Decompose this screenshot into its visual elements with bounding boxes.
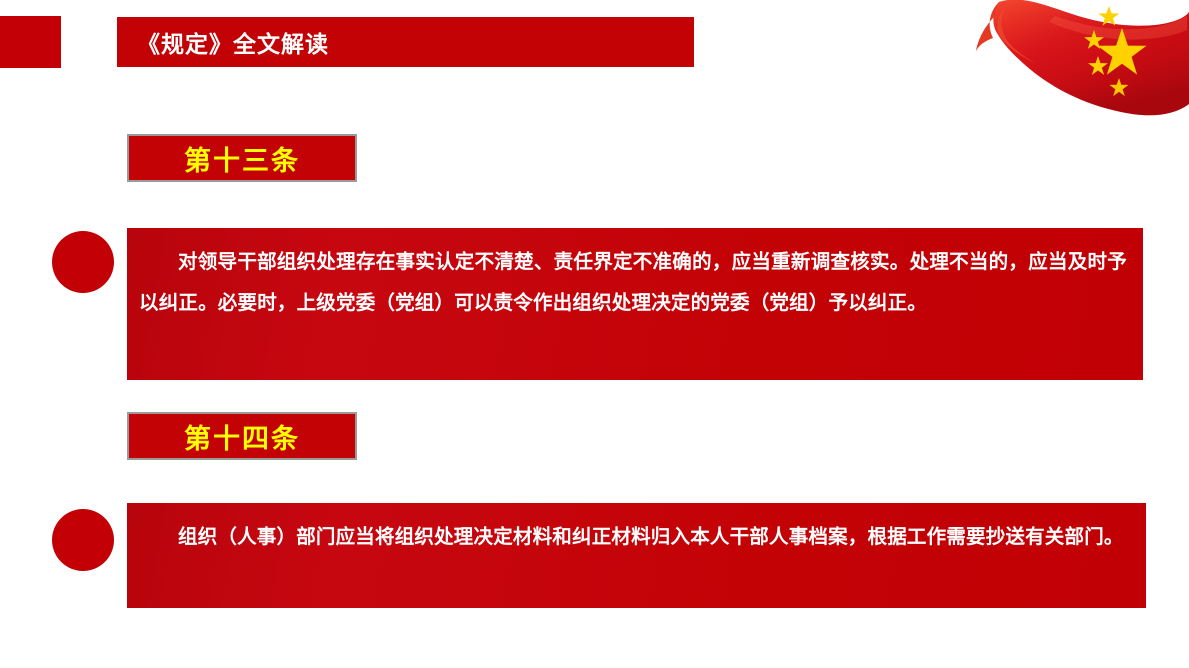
body-paragraph: 对领导干部组织处理存在事实认定不清楚、责任界定不准确的，应当重新调查核实。处理不… bbox=[127, 228, 1143, 336]
section-heading-label: 第十四条 bbox=[184, 417, 300, 456]
chinese-flag-icon bbox=[959, 0, 1189, 160]
page-title: 《规定》全文解读 bbox=[117, 25, 329, 59]
header-title-bar: 《规定》全文解读 bbox=[117, 17, 694, 67]
slide-root: 《规定》全文解读 bbox=[0, 0, 1189, 668]
body-paragraph: 组织（人事）部门应当将组织处理决定材料和纠正材料归入本人干部人事档案，根据工作需… bbox=[127, 503, 1146, 570]
red-dot-bullet-icon bbox=[52, 231, 114, 293]
red-dot-bullet-icon bbox=[52, 509, 114, 571]
body-panel-article-13: 对领导干部组织处理存在事实认定不清楚、责任界定不准确的，应当重新调查核实。处理不… bbox=[127, 228, 1143, 380]
section-heading-label: 第十三条 bbox=[184, 139, 300, 178]
body-panel-article-14: 组织（人事）部门应当将组织处理决定材料和纠正材料归入本人干部人事档案，根据工作需… bbox=[127, 503, 1146, 608]
section-heading-article-13: 第十三条 bbox=[127, 134, 357, 182]
header-accent-block bbox=[0, 16, 61, 68]
section-heading-article-14: 第十四条 bbox=[127, 412, 357, 460]
